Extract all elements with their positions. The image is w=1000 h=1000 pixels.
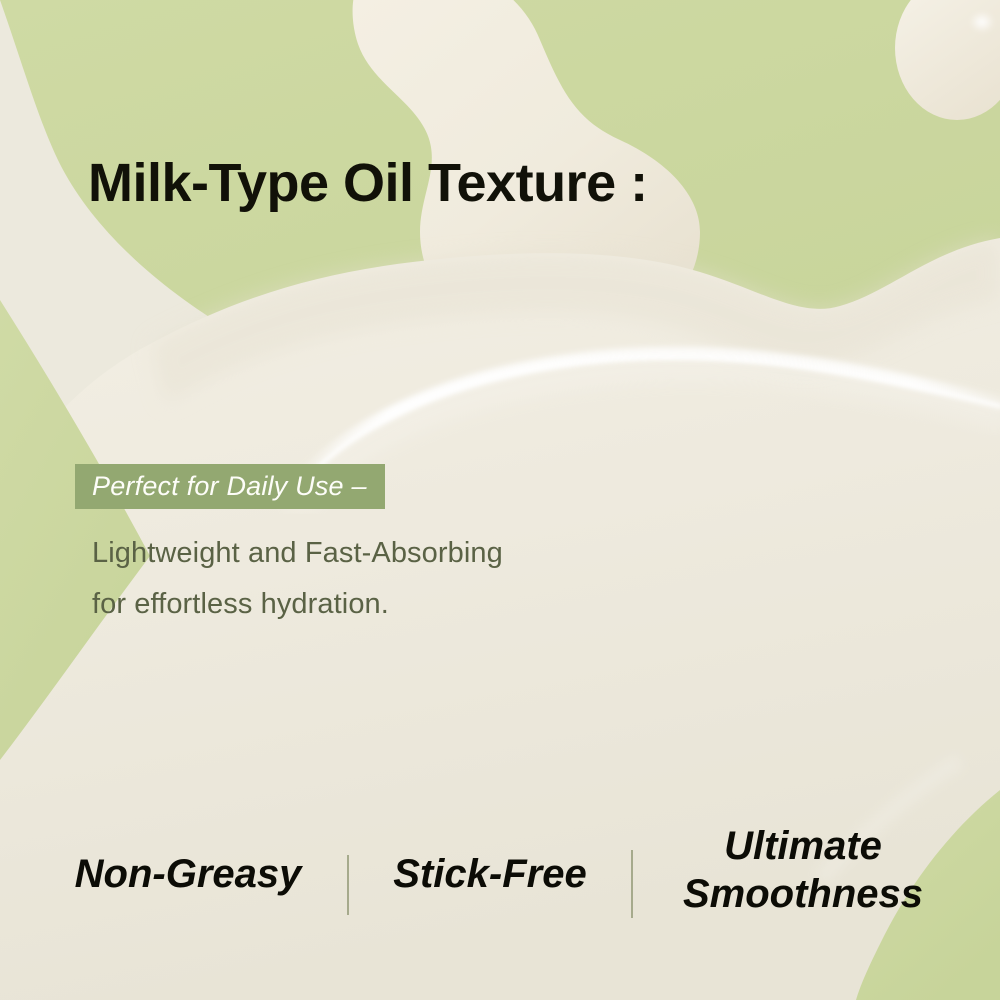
feature-divider-2 — [631, 850, 633, 918]
feature-ultimate-smoothness: Ultimate Smoothness — [648, 822, 958, 918]
body-copy-line-1: Lightweight and Fast-Absorbing — [92, 528, 503, 579]
content-layer: Milk-Type Oil Texture : Perfect for Dail… — [0, 0, 1000, 1000]
feature-ultimate-smoothness-line-2: Smoothness — [648, 870, 958, 918]
feature-stick-free: Stick-Free — [360, 850, 620, 898]
page-title: Milk-Type Oil Texture : — [88, 154, 648, 213]
texture-promo-graphic: Milk-Type Oil Texture : Perfect for Dail… — [0, 0, 1000, 1000]
tagline-text: Perfect for Daily Use – — [92, 471, 367, 502]
feature-ultimate-smoothness-line-1: Ultimate — [648, 822, 958, 870]
feature-non-greasy: Non-Greasy — [38, 850, 338, 898]
feature-divider-1 — [347, 855, 349, 915]
body-copy: Lightweight and Fast-Absorbing for effor… — [92, 528, 503, 630]
body-copy-line-2: for effortless hydration. — [92, 579, 503, 630]
feature-row: Non-Greasy Stick-Free Ultimate Smoothnes… — [0, 810, 1000, 950]
tagline-highlight-band: Perfect for Daily Use – — [75, 464, 385, 509]
